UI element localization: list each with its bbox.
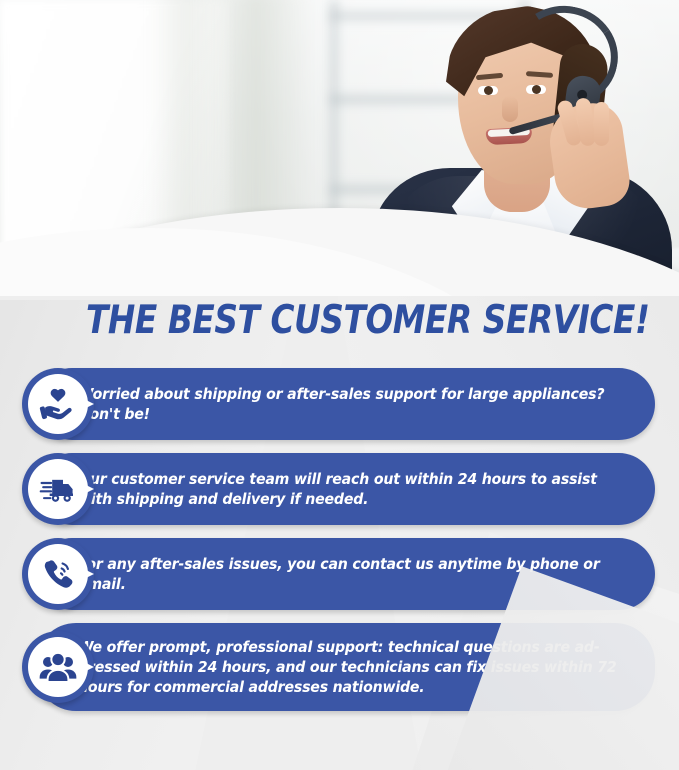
phone-call-icon [22,538,94,610]
office-shelf [330,0,338,240]
nose [502,96,518,122]
hero-photo-banner [0,0,679,296]
feature-text: Our customer service team will reach out… [78,453,611,525]
finger [594,102,609,146]
feature-line: with shipping and delivery if needed. [78,489,611,509]
eye-left [478,86,498,95]
delivery-truck-icon [22,453,94,525]
list-item[interactable]: Worried about shipping or after-sales su… [0,368,679,440]
hand-heart-icon [22,368,94,440]
support-team-icon [22,631,94,703]
list-item[interactable]: Our customer service team will reach out… [0,453,679,525]
feature-text: Worried about shipping or after-sales su… [78,368,611,440]
feature-line: Worried about shipping or after-sales su… [78,384,611,404]
feature-line: Don't be! [78,404,611,424]
feature-line: Our customer service team will reach out… [78,469,611,489]
customer-service-poster: THE BEST CUSTOMER SERVICE! Worried about… [0,0,679,770]
page-title: THE BEST CUSTOMER SERVICE! [86,298,649,343]
